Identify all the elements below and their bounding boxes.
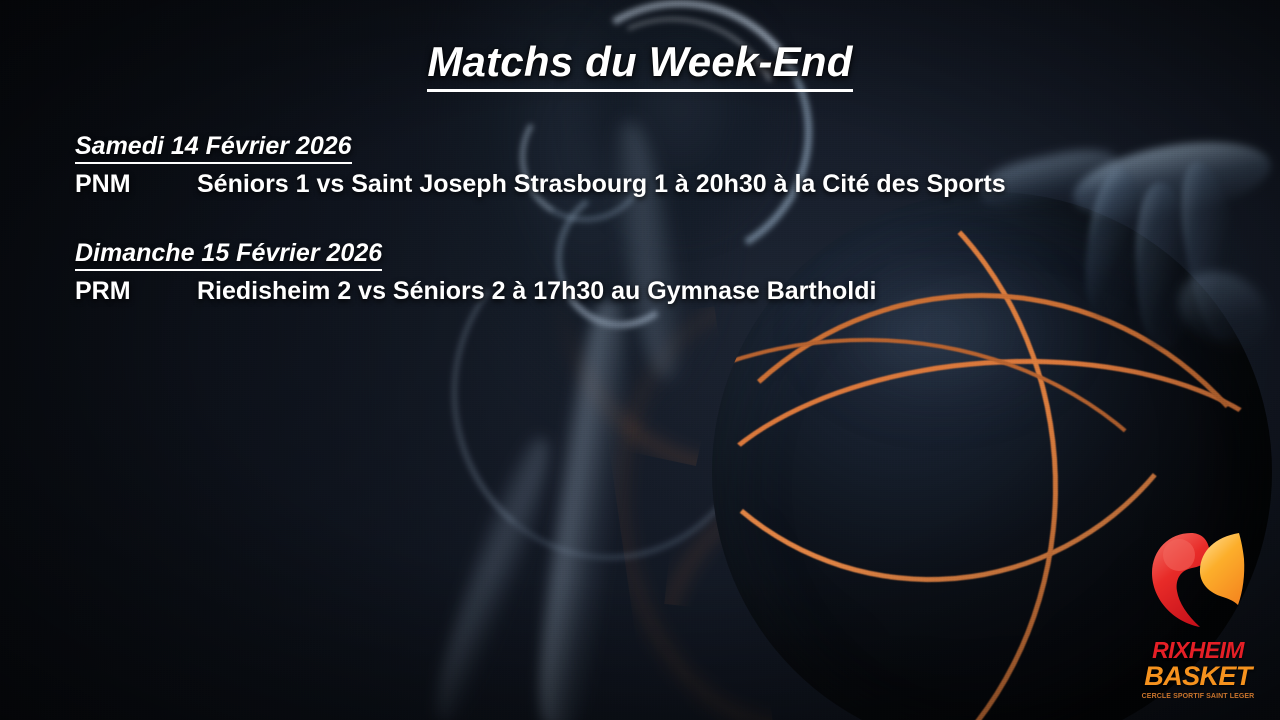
match-category: PRM	[75, 275, 197, 308]
match-announcement-poster: Matchs du Week-End Samedi 14 Février 202…	[0, 0, 1280, 720]
schedule-day-heading: Samedi 14 Février 2026	[75, 131, 1240, 162]
schedule-day-label: Dimanche 15 Février 2026	[75, 239, 382, 271]
logo-wordmark-secondary: BASKET	[1131, 663, 1265, 691]
rixheim-r-mark-icon	[1143, 527, 1253, 635]
match-description: Riedisheim 2 vs Séniors 2 à 17h30 au Gym…	[197, 275, 876, 308]
match-row: PRM Riedisheim 2 vs Séniors 2 à 17h30 au…	[75, 275, 1240, 308]
page-title: Matchs du Week-End	[0, 38, 1280, 86]
match-description: Séniors 1 vs Saint Joseph Strasbourg 1 à…	[197, 168, 1006, 201]
logo-tagline: CERCLE SPORTIF SAINT LEGER	[1131, 693, 1265, 701]
schedule-day-block: Samedi 14 Février 2026 PNM Séniors 1 vs …	[75, 131, 1240, 200]
match-row: PNM Séniors 1 vs Saint Joseph Strasbourg…	[75, 168, 1240, 201]
match-category: PNM	[75, 168, 197, 201]
page-title-text: Matchs du Week-End	[427, 38, 852, 92]
schedule-list: Samedi 14 Février 2026 PNM Séniors 1 vs …	[75, 131, 1240, 307]
poster-content: Matchs du Week-End Samedi 14 Février 202…	[0, 0, 1280, 720]
schedule-day-block: Dimanche 15 Février 2026 PRM Riedisheim …	[75, 238, 1240, 307]
logo-wordmark-primary: RIXHEIM	[1131, 639, 1265, 662]
schedule-day-heading: Dimanche 15 Février 2026	[75, 238, 1240, 269]
club-logo: RIXHEIM BASKET CERCLE SPORTIF SAINT LEGE…	[1131, 527, 1265, 707]
schedule-day-label: Samedi 14 Février 2026	[75, 132, 352, 164]
